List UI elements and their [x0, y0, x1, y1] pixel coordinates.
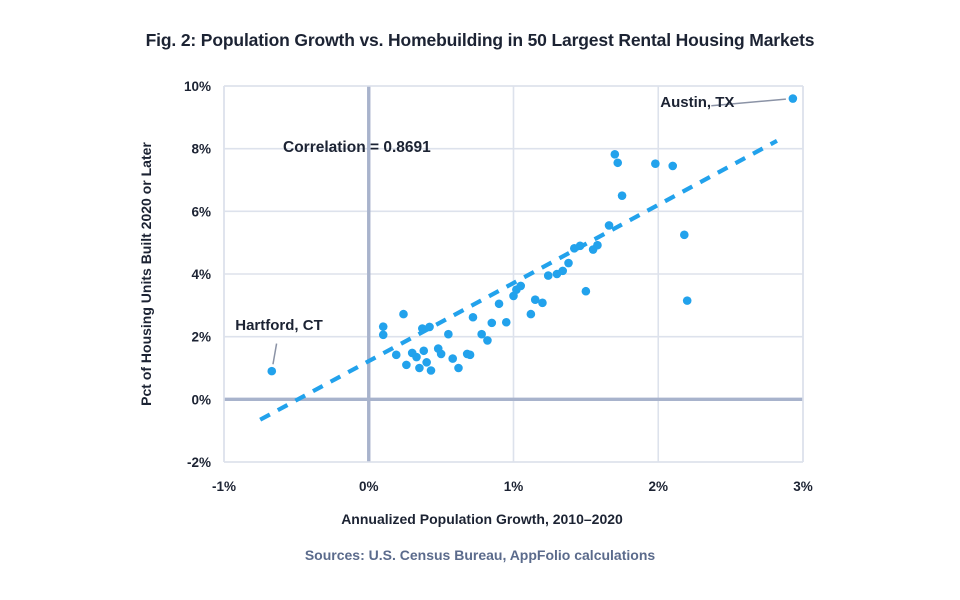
data-point: [415, 364, 424, 373]
scatter-plot: Austin, TXHartford, CT -1%0%1%2%3% -2%0%…: [0, 0, 960, 600]
y-axis-tick-labels: -2%0%2%4%6%8%10%: [184, 79, 211, 470]
data-point: [454, 364, 463, 373]
figure-container: Fig. 2: Population Growth vs. Homebuildi…: [0, 0, 960, 600]
x-axis-title: Annualized Population Growth, 2010–2020: [341, 511, 623, 527]
data-point: [402, 361, 411, 370]
data-point: [379, 322, 388, 331]
data-point: [427, 366, 436, 375]
annotation-leader-line: [273, 344, 277, 365]
data-point: [613, 158, 622, 167]
y-tick-label: 10%: [184, 79, 211, 94]
data-point: [448, 354, 457, 363]
data-point: [419, 346, 428, 355]
data-point: [379, 330, 388, 339]
data-point: [422, 358, 431, 367]
x-tick-label: 1%: [504, 479, 524, 494]
annotation-label: Hartford, CT: [235, 317, 323, 334]
data-point: [683, 296, 692, 305]
annotations-group: Austin, TXHartford, CT: [235, 94, 786, 364]
data-point: [483, 336, 492, 345]
data-point: [680, 231, 689, 240]
y-axis-title: Pct of Housing Units Built 2020 or Later: [138, 142, 154, 406]
data-point: [544, 271, 553, 280]
x-tick-label: -1%: [212, 479, 236, 494]
data-point: [564, 259, 573, 268]
data-point: [495, 299, 504, 308]
data-point: [444, 330, 453, 339]
y-tick-label: 0%: [191, 392, 211, 407]
data-points-group: [267, 94, 797, 375]
data-point: [418, 324, 427, 333]
data-point: [516, 282, 525, 291]
data-point: [538, 299, 547, 308]
data-point: [618, 191, 627, 200]
x-tick-label: 2%: [648, 479, 668, 494]
y-tick-label: -2%: [187, 455, 211, 470]
data-point: [412, 353, 421, 362]
x-axis-tick-labels: -1%0%1%2%3%: [212, 479, 813, 494]
annotation-label: Austin, TX: [660, 94, 734, 111]
data-point: [466, 351, 475, 360]
data-point: [789, 94, 798, 103]
trendline-path: [260, 141, 777, 420]
data-point: [576, 242, 585, 251]
trendline: [260, 141, 777, 420]
y-tick-label: 8%: [191, 142, 211, 157]
data-point: [593, 241, 602, 250]
correlation-label: Correlation = 0.8691: [283, 139, 431, 156]
data-point: [437, 350, 446, 359]
data-point: [527, 310, 536, 319]
data-point: [558, 267, 567, 276]
data-point: [392, 351, 401, 360]
data-point: [267, 367, 276, 376]
data-point: [668, 162, 677, 171]
data-point: [582, 287, 591, 296]
y-tick-label: 6%: [191, 204, 211, 219]
data-point: [611, 150, 620, 159]
x-tick-label: 3%: [793, 479, 813, 494]
source-note: Sources: U.S. Census Bureau, AppFolio ca…: [0, 547, 960, 563]
data-point: [487, 319, 496, 328]
x-tick-label: 0%: [359, 479, 379, 494]
data-point: [469, 313, 478, 322]
data-point: [605, 221, 614, 230]
data-point: [502, 318, 511, 327]
y-tick-label: 2%: [191, 330, 211, 345]
data-point: [651, 159, 660, 168]
data-point: [425, 323, 434, 332]
data-point: [399, 310, 408, 319]
y-tick-label: 4%: [191, 267, 211, 282]
